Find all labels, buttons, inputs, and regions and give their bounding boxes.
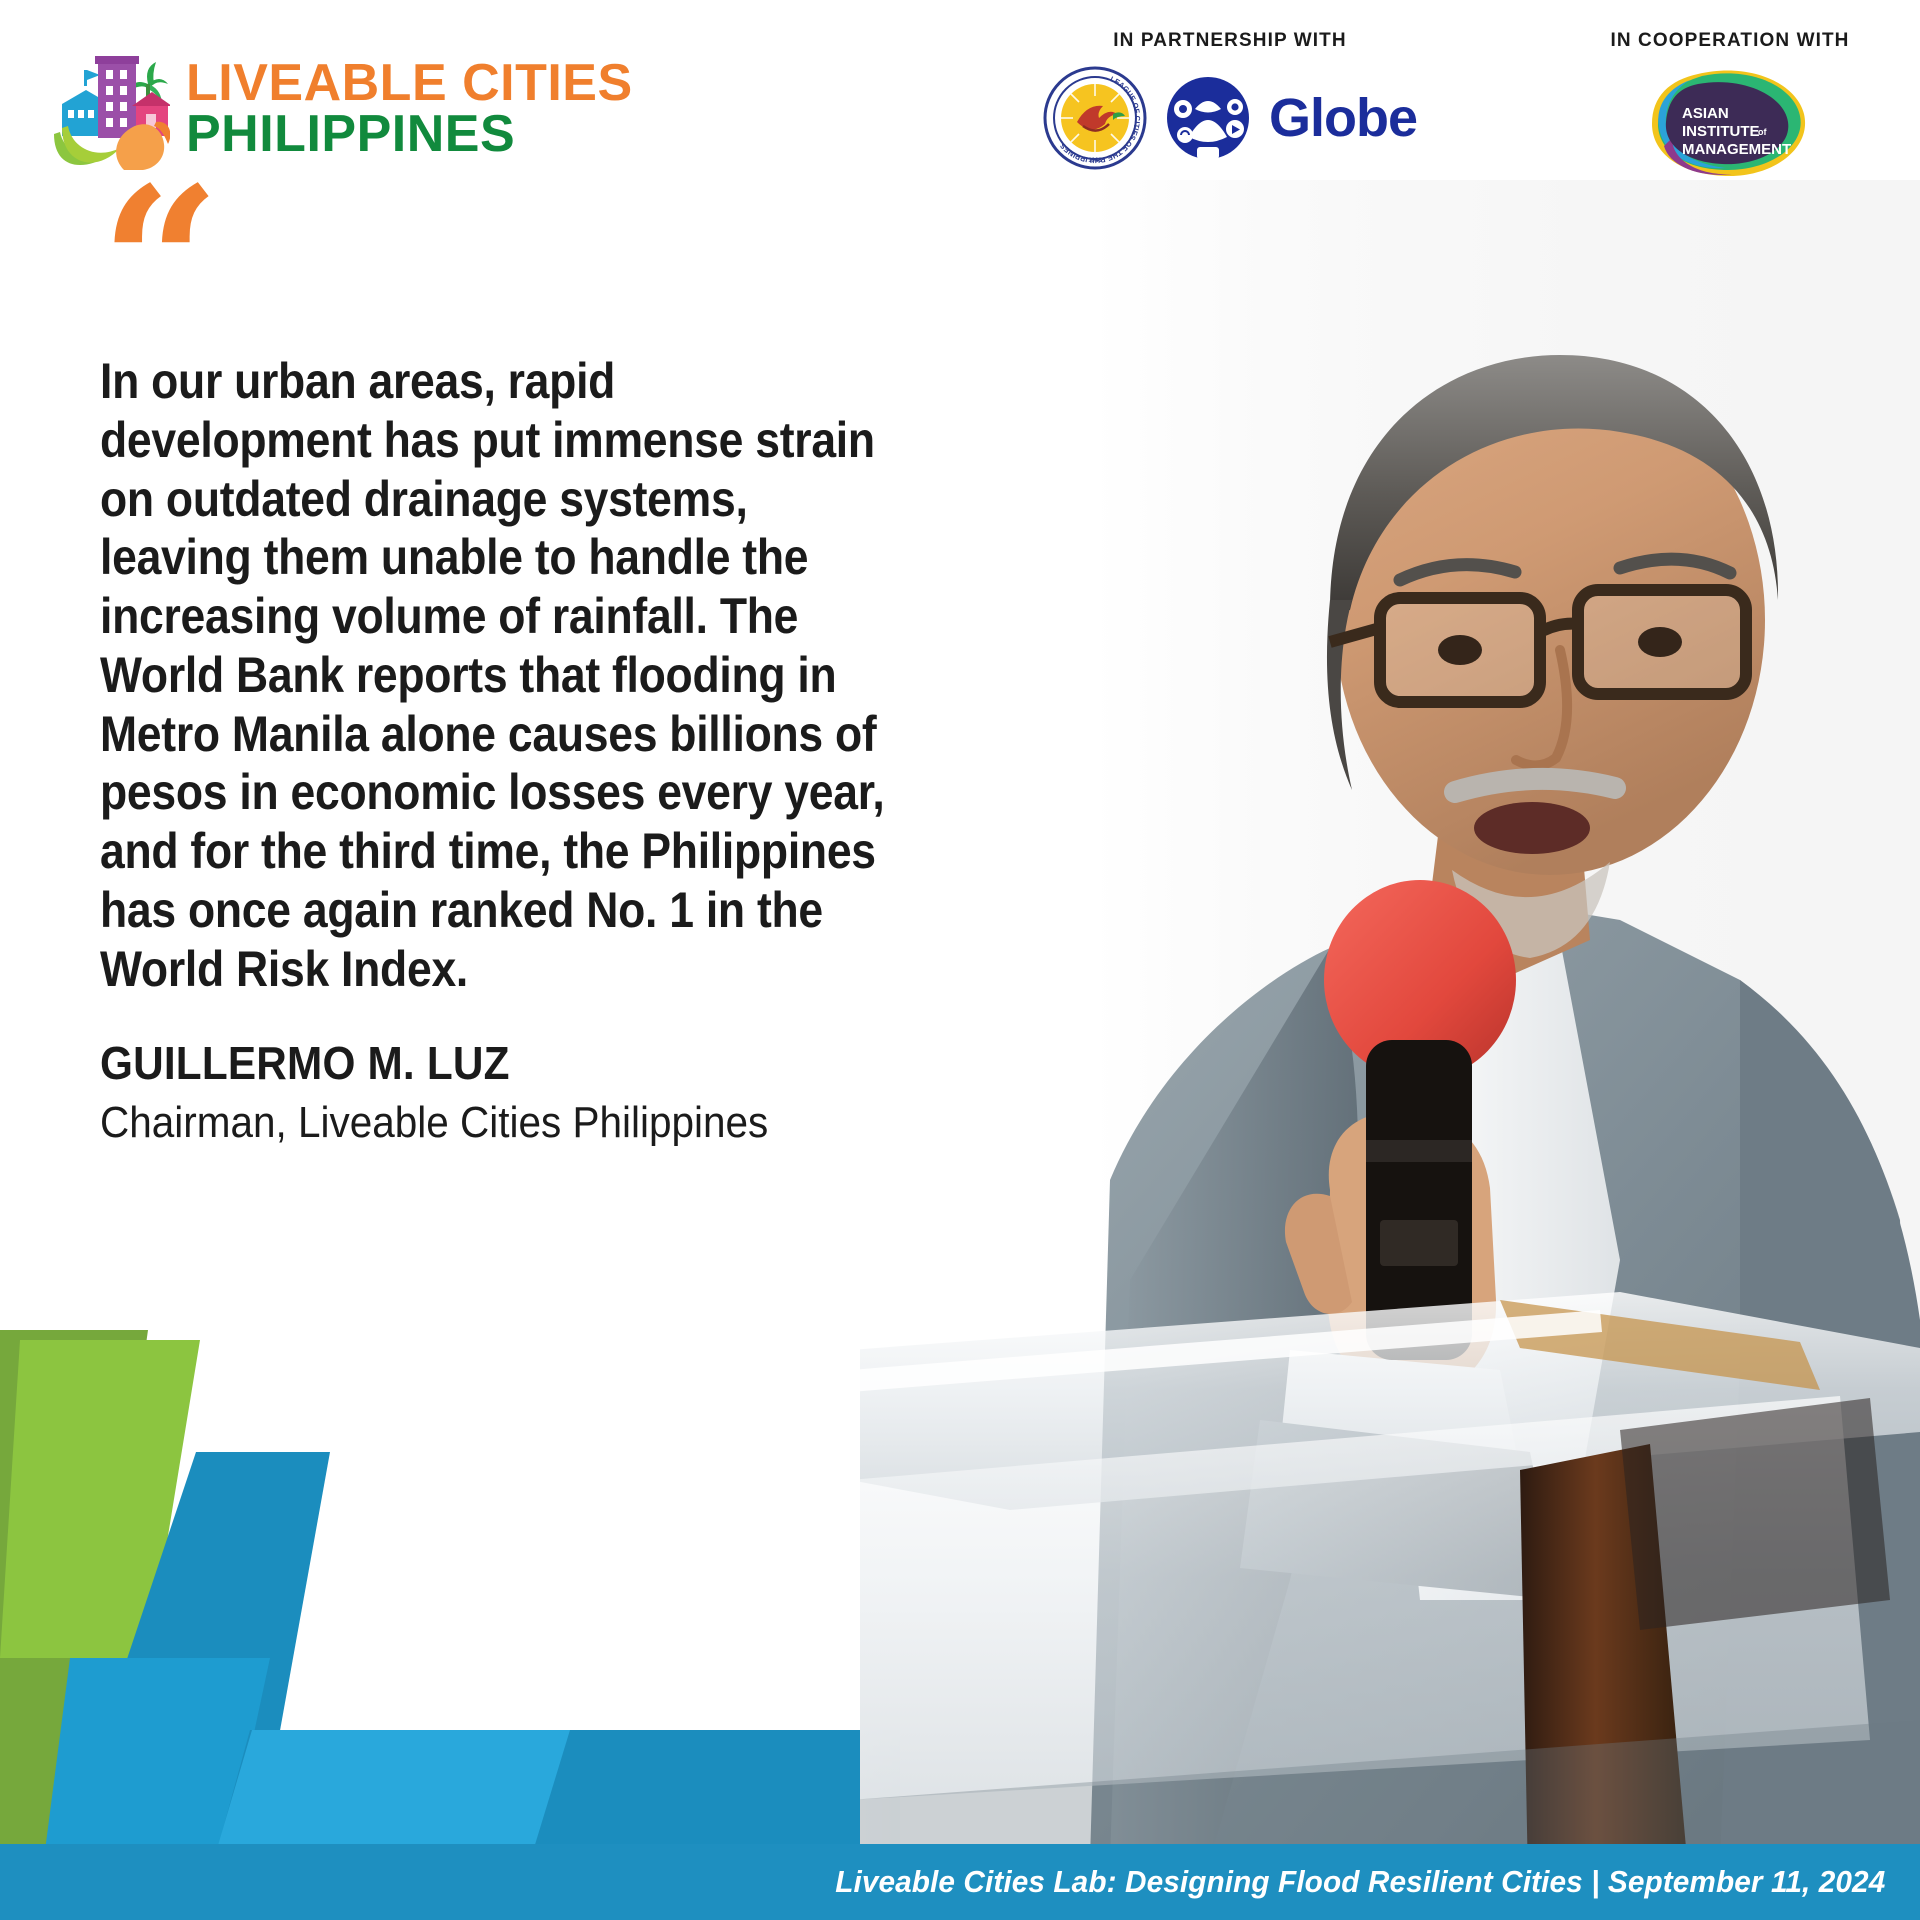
decor-green-light [0,1340,200,1658]
mic-band [1366,1140,1472,1162]
cooperation-label: IN COOPERATION WITH [1540,0,1920,52]
asian-institute-of-management-icon: ASIAN INSTITUTE of MANAGEMENT [1646,66,1814,178]
speaker-role: Chairman, Liveable Cities Philippines [100,1098,836,1148]
aim-line-3: MANAGEMENT [1682,141,1791,158]
brand-line-2: PHILIPPINES [186,109,633,160]
aim-line-1: ASIAN [1682,105,1729,122]
decorative-corner-shapes [0,1200,900,1920]
city-skyline-leaf-hand-icon [52,48,170,170]
decor-green-dark [0,1330,148,1920]
globe-telecom-icon [1165,75,1251,161]
partner-logos-area: IN PARTNERSHIP WITH [920,0,1920,200]
speaker-name: GUILLERMO M. LUZ [100,1036,836,1090]
page-header: LIVEABLE CITIES PHILIPPINES IN PARTNERSH… [0,0,1920,200]
aim-line-2-suffix: of [1758,127,1767,137]
brand-line-1: LIVEABLE CITIES [186,58,633,109]
eye-right [1638,627,1682,657]
mic-label [1380,1220,1458,1266]
cooperation-group: IN COOPERATION WITH ASIAN INSTITUTE of M… [1540,0,1920,178]
eye-left [1438,635,1482,665]
mouth [1474,802,1590,854]
aim-line-2: INSTITUTE [1682,123,1760,140]
partnership-group: IN PARTNERSHIP WITH [930,0,1530,170]
acrylic-podium [860,1292,1920,1860]
liveable-cities-logo: LIVEABLE CITIES PHILIPPINES [52,48,633,170]
globe-wordmark: Globe [1269,91,1417,145]
quote-mark-icon: “ [100,200,900,330]
eyeglasses [1330,590,1746,702]
event-banner: Liveable Cities Lab: Designing Flood Res… [0,1844,1920,1920]
quote-text: In our urban areas, rapid development ha… [100,352,892,998]
podium-shadow-under [1620,1398,1890,1630]
purple-tower-icon [95,56,139,138]
partnership-label: IN PARTNERSHIP WITH [930,0,1530,52]
event-banner-text: Liveable Cities Lab: Designing Flood Res… [835,1864,1920,1900]
speaker-photo [860,180,1920,1860]
quote-block: “ In our urban areas, rapid development … [100,200,900,1148]
league-of-cities-seal-icon: 1988 LEAGUE OF CITIES OF THE PHILIPPINES [1043,66,1147,170]
